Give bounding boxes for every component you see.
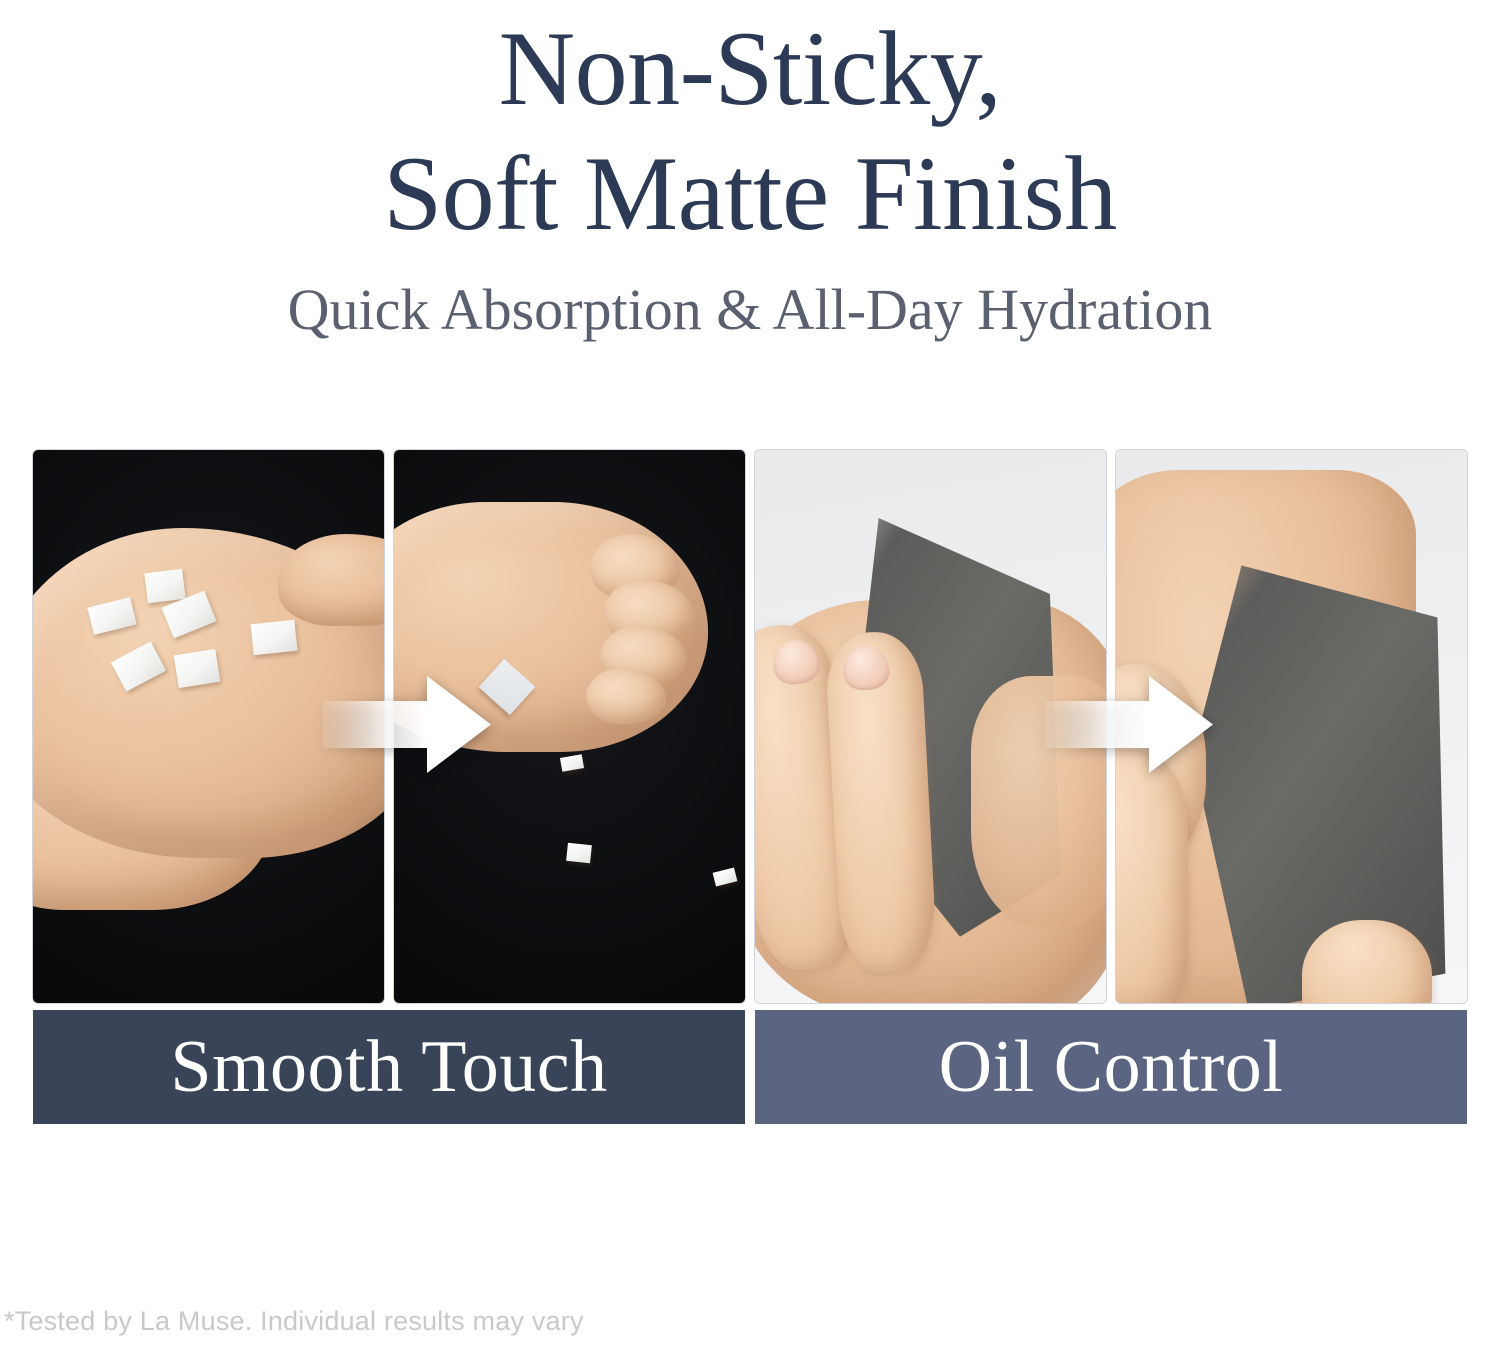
arrow-right-icon <box>323 672 493 777</box>
paper-square <box>251 620 298 655</box>
demo-group-smooth-touch <box>33 450 745 1003</box>
label-bar-smooth-touch: Smooth Touch <box>33 1010 745 1124</box>
finger-shape <box>1116 750 1188 1003</box>
label-text-oil-control: Oil Control <box>939 1030 1284 1104</box>
disclaimer-footnote: *Tested by La Muse. Individual results m… <box>4 1308 584 1335</box>
headline-line-2: Soft Matte Finish <box>0 131 1500 256</box>
headline-line-1: Non-Sticky, <box>0 6 1500 131</box>
label-bar-row: Smooth Touch Oil Control <box>33 1010 1467 1124</box>
paper-square-fallen <box>713 868 738 887</box>
demo-grid <box>33 450 1467 1003</box>
demo-group-oil-control <box>755 450 1467 1003</box>
label-text-smooth-touch: Smooth Touch <box>170 1030 607 1104</box>
paper-square <box>174 649 221 688</box>
page-title: Non-Sticky, Soft Matte Finish <box>0 0 1500 256</box>
header: Non-Sticky, Soft Matte Finish Quick Abso… <box>0 0 1500 342</box>
paper-square <box>144 569 185 603</box>
paper-square-fallen <box>566 843 592 863</box>
label-bar-oil-control: Oil Control <box>755 1010 1467 1124</box>
paper-square-fallen <box>560 754 584 772</box>
page-subtitle: Quick Absorption & All-Day Hydration <box>0 256 1500 342</box>
arrow-right-icon <box>1045 672 1215 777</box>
finger-shape <box>278 534 384 626</box>
